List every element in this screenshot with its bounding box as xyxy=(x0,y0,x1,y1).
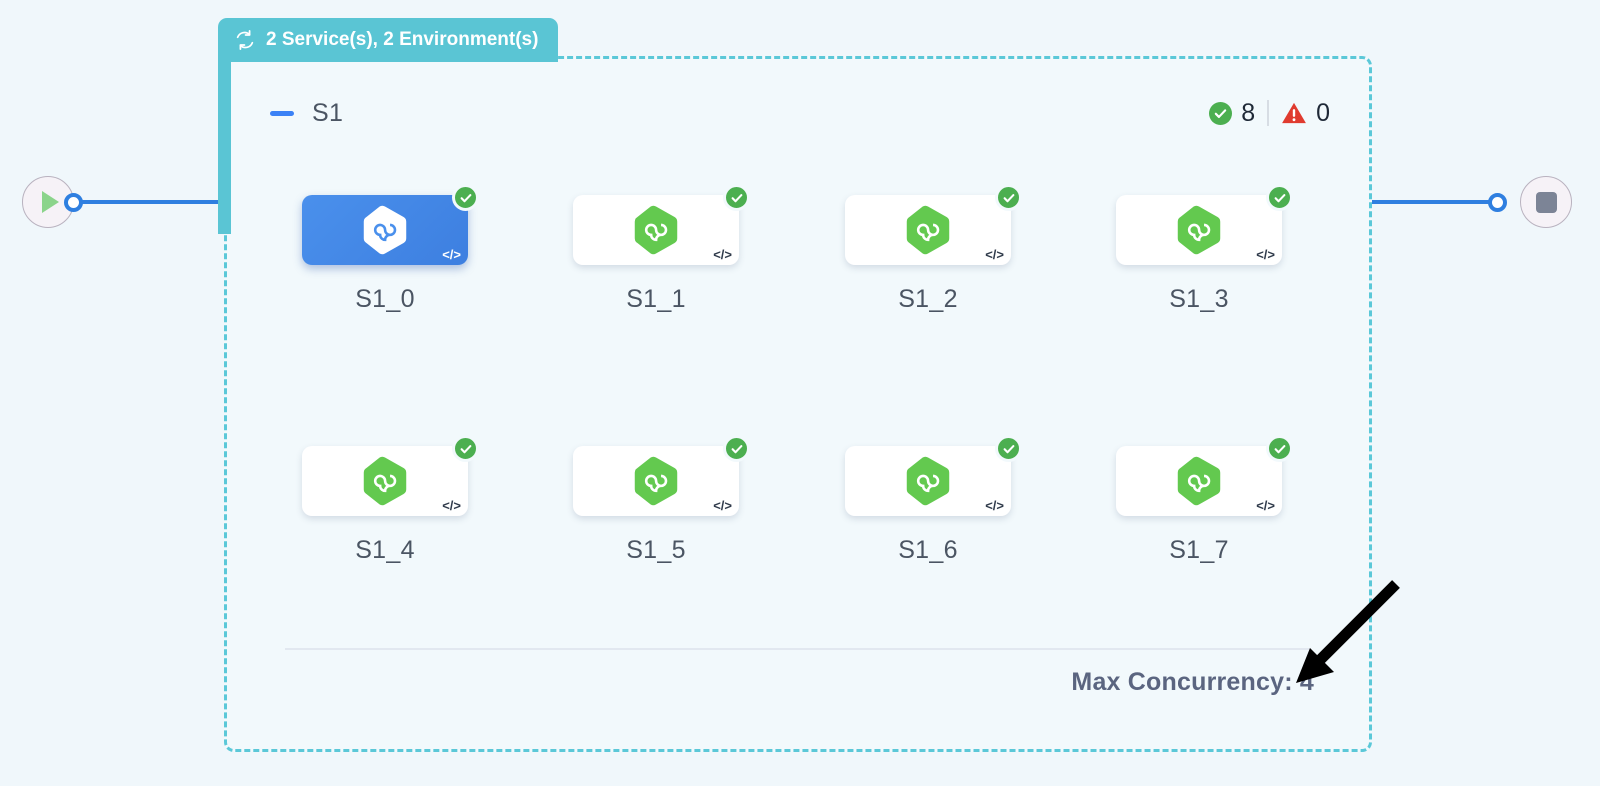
minus-icon[interactable] xyxy=(270,111,294,116)
service-node-label: S1_7 xyxy=(1116,536,1282,565)
service-hexagon-icon xyxy=(905,456,951,506)
check-circle-icon xyxy=(452,184,479,211)
service-hexagon-icon xyxy=(633,205,679,255)
group-accent-bar xyxy=(218,44,231,234)
check-circle-icon xyxy=(1266,435,1293,462)
service-node-card[interactable]: </> xyxy=(1116,446,1282,516)
service-node[interactable]: </> S1_3 xyxy=(1116,195,1282,314)
warning-status: 0 xyxy=(1281,99,1330,128)
check-circle-icon xyxy=(723,184,750,211)
check-circle-icon xyxy=(1266,184,1293,211)
success-count: 8 xyxy=(1241,99,1255,128)
check-circle-icon xyxy=(1209,102,1232,125)
service-hexagon-icon xyxy=(1176,456,1222,506)
status-divider xyxy=(1267,100,1269,126)
service-hexagon-icon xyxy=(633,456,679,506)
service-node-card[interactable]: </> xyxy=(302,446,468,516)
service-node-label: S1_2 xyxy=(845,285,1011,314)
max-concurrency-label: Max Concurrency: 4 xyxy=(1071,668,1314,697)
check-circle-icon xyxy=(995,435,1022,462)
service-node[interactable]: </> S1_6 xyxy=(845,446,1011,565)
code-brackets-icon[interactable]: </> xyxy=(713,247,732,262)
service-node-card[interactable]: </> xyxy=(845,446,1011,516)
code-brackets-icon[interactable]: </> xyxy=(1256,247,1275,262)
service-node-label: S1_1 xyxy=(573,285,739,314)
check-circle-icon xyxy=(995,184,1022,211)
service-node-card[interactable]: </> xyxy=(573,195,739,265)
code-brackets-icon[interactable]: </> xyxy=(442,247,461,262)
service-node-card[interactable]: </> xyxy=(845,195,1011,265)
edge-group-to-end xyxy=(1372,200,1496,204)
service-node[interactable]: </> S1_4 xyxy=(302,446,468,565)
end-port[interactable] xyxy=(1488,193,1507,212)
service-node-card[interactable]: </> xyxy=(573,446,739,516)
success-status: 8 xyxy=(1209,99,1255,128)
code-brackets-icon[interactable]: </> xyxy=(713,498,732,513)
service-node[interactable]: </> S1_2 xyxy=(845,195,1011,314)
service-hexagon-icon xyxy=(362,456,408,506)
footer-divider xyxy=(285,648,1310,650)
group-tab-label: 2 Service(s), 2 Environment(s) xyxy=(266,29,538,51)
start-port[interactable] xyxy=(64,193,83,212)
code-brackets-icon[interactable]: </> xyxy=(1256,498,1275,513)
service-hexagon-icon xyxy=(362,205,408,255)
service-node-card[interactable]: </> xyxy=(302,195,468,265)
service-node[interactable]: </> S1_7 xyxy=(1116,446,1282,565)
service-hexagon-icon xyxy=(1176,205,1222,255)
service-node-label: S1_6 xyxy=(845,536,1011,565)
service-node-label: S1_0 xyxy=(302,285,468,314)
group-header: S1 8 0 xyxy=(270,92,1330,134)
play-icon xyxy=(42,191,59,213)
service-node-label: S1_4 xyxy=(302,536,468,565)
service-hexagon-icon xyxy=(905,205,951,255)
service-node-label: S1_3 xyxy=(1116,285,1282,314)
service-node[interactable]: </> S1_5 xyxy=(573,446,739,565)
service-node-card[interactable]: </> xyxy=(1116,195,1282,265)
service-node-label: S1_5 xyxy=(573,536,739,565)
warning-triangle-icon xyxy=(1281,101,1307,125)
warning-count: 0 xyxy=(1316,99,1330,128)
group-title: S1 xyxy=(312,99,343,128)
service-node[interactable]: </> S1_0 xyxy=(302,195,468,314)
check-circle-icon xyxy=(723,435,750,462)
stop-icon xyxy=(1536,192,1557,213)
service-node[interactable]: </> S1_1 xyxy=(573,195,739,314)
code-brackets-icon[interactable]: </> xyxy=(985,498,1004,513)
group-tab[interactable]: 2 Service(s), 2 Environment(s) xyxy=(218,18,558,62)
group-header-left: S1 xyxy=(270,99,343,128)
loop-refresh-icon xyxy=(234,29,256,51)
check-circle-icon xyxy=(452,435,479,462)
end-terminal[interactable] xyxy=(1520,176,1572,228)
code-brackets-icon[interactable]: </> xyxy=(442,498,461,513)
status-counts: 8 0 xyxy=(1209,99,1330,128)
code-brackets-icon[interactable]: </> xyxy=(985,247,1004,262)
edge-start-to-group xyxy=(78,200,224,204)
workflow-canvas: 2 Service(s), 2 Environment(s) S1 8 xyxy=(0,0,1600,786)
